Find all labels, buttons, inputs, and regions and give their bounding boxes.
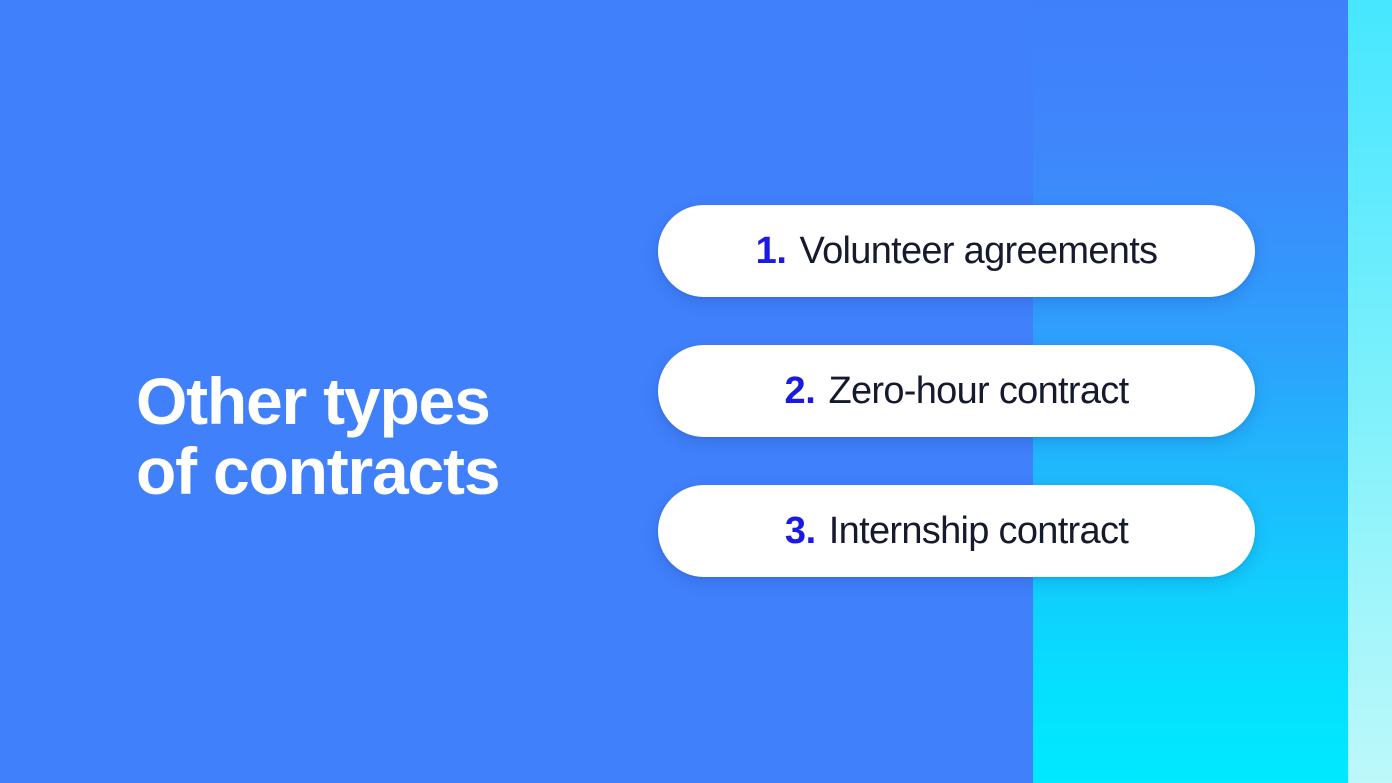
list-item-label: Zero-hour contract	[828, 372, 1128, 410]
list-item[interactable]: 3. Internship contract	[658, 485, 1255, 577]
list-item-number: 1.	[756, 232, 787, 270]
list-item[interactable]: 1. Volunteer agreements	[658, 205, 1255, 297]
contract-types-list: 1. Volunteer agreements 2. Zero-hour con…	[658, 205, 1255, 577]
list-item-number: 2.	[785, 372, 816, 410]
list-item-number: 3.	[785, 512, 816, 550]
list-item-label: Volunteer agreements	[800, 232, 1158, 270]
slide-canvas: Other types of contracts 1. Volunteer ag…	[0, 0, 1392, 783]
list-item-label: Internship contract	[829, 512, 1128, 550]
page-title: Other types of contracts	[136, 366, 606, 506]
background-accent-strip	[1348, 0, 1392, 783]
list-item[interactable]: 2. Zero-hour contract	[658, 345, 1255, 437]
